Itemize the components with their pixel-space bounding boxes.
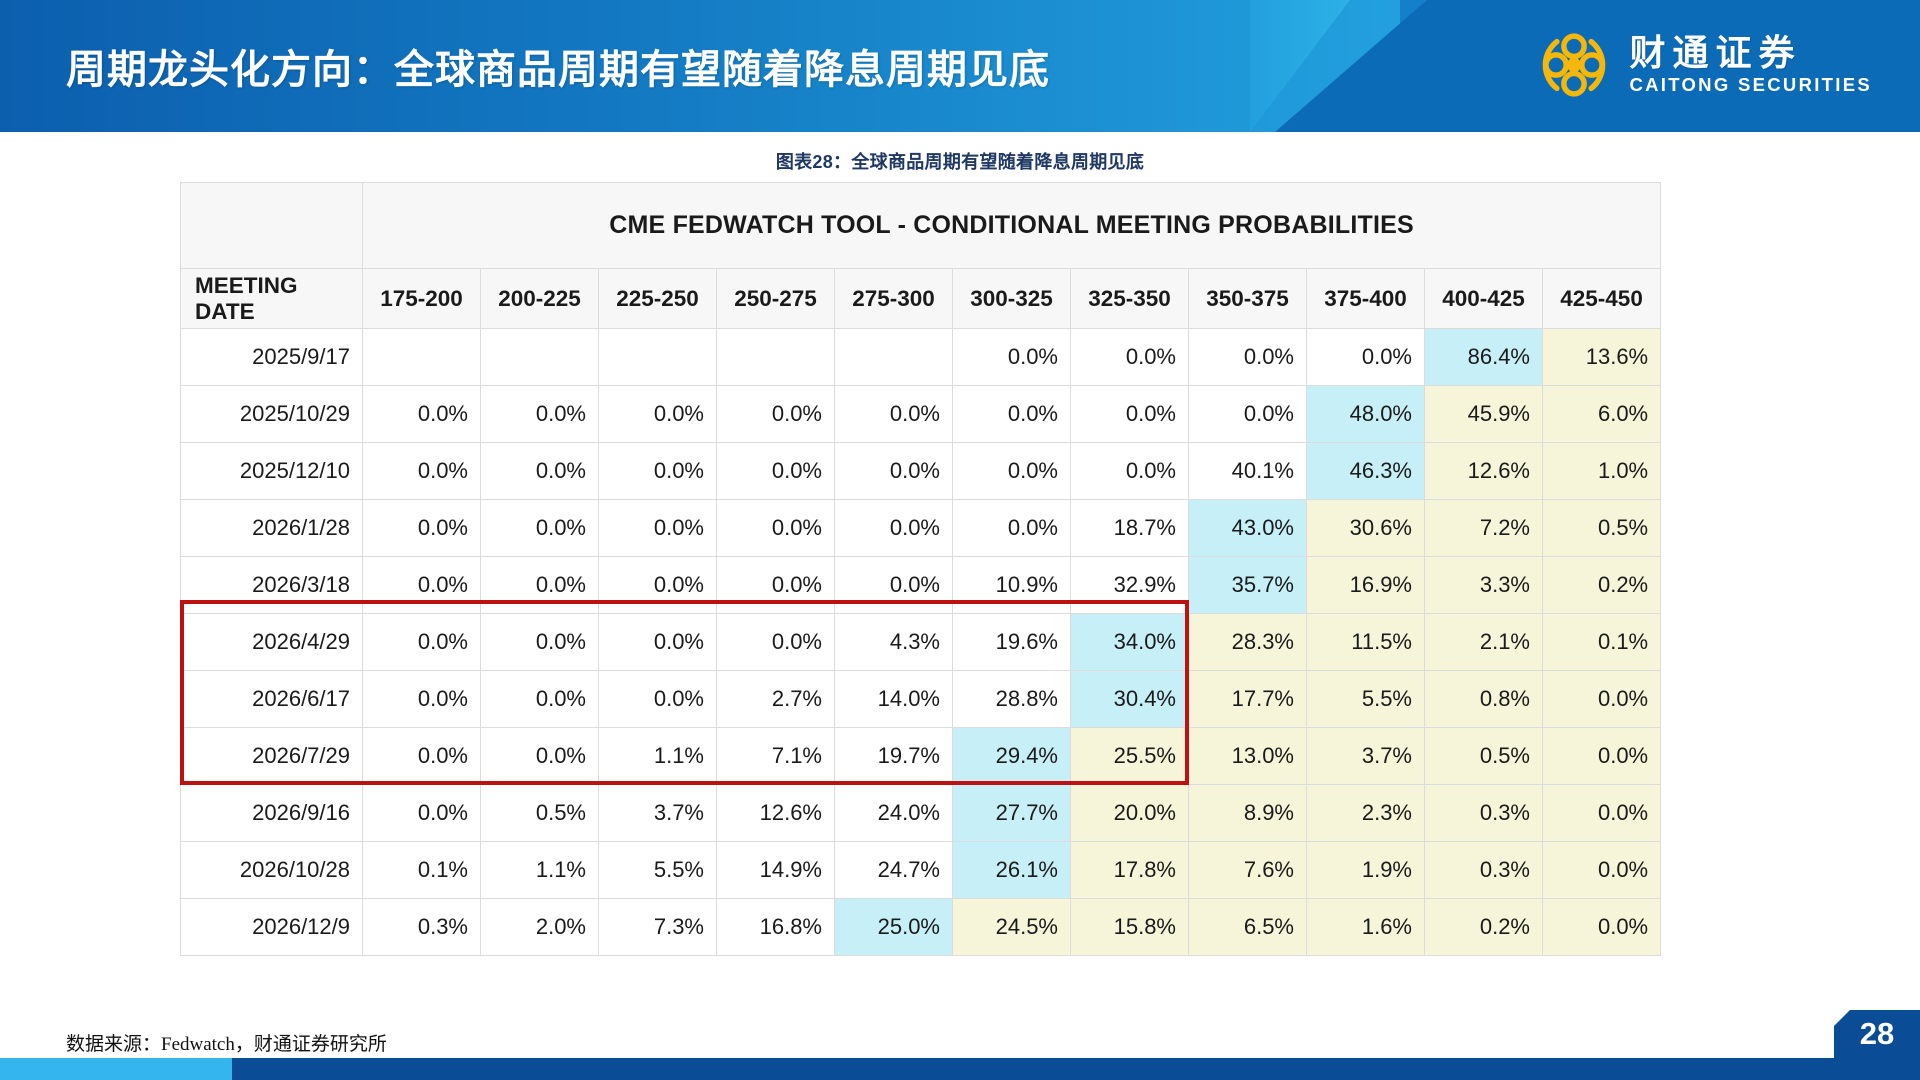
probability-cell: 0.0% [1189,386,1307,443]
probability-cell: 0.0% [363,557,481,614]
probability-cell: 20.0% [1071,785,1189,842]
probability-cell: 3.7% [1307,728,1425,785]
probability-cell: 7.1% [717,728,835,785]
probability-cell: 1.6% [1307,899,1425,956]
table-row: 2026/10/280.1%1.1%5.5%14.9%24.7%26.1%17.… [181,842,1661,899]
company-logo: 财通证券 CAITONG SECURITIES [1535,26,1872,104]
probability-cell: 0.5% [481,785,599,842]
meeting-date-cell: 2026/9/16 [181,785,363,842]
probability-cell: 0.0% [481,614,599,671]
probability-cell: 0.0% [599,500,717,557]
probability-cell: 0.0% [1071,443,1189,500]
column-header-400-425: 400-425 [1425,269,1543,329]
probability-cell: 1.9% [1307,842,1425,899]
page-title: 周期龙头化方向：全球商品周期有望随着降息周期见底 [66,0,1050,132]
table-row: 2026/9/160.0%0.5%3.7%12.6%24.0%27.7%20.0… [181,785,1661,842]
probability-cell: 2.1% [1425,614,1543,671]
probability-cell: 34.0% [1071,614,1189,671]
fedwatch-table-container: CME FEDWATCH TOOL - CONDITIONAL MEETING … [180,182,1660,956]
probability-cell: 0.0% [835,557,953,614]
probability-cell: 0.0% [481,671,599,728]
probability-cell: 12.6% [1425,443,1543,500]
table-row: 2026/12/90.3%2.0%7.3%16.8%25.0%24.5%15.8… [181,899,1661,956]
slide: 周期龙头化方向：全球商品周期有望随着降息周期见底 财通证券 [0,0,1920,1080]
probability-cell: 2.7% [717,671,835,728]
column-header-250-275: 250-275 [717,269,835,329]
probability-cell: 0.3% [1425,785,1543,842]
column-header-175-200: 175-200 [363,269,481,329]
probability-cell: 0.0% [363,671,481,728]
probability-cell: 0.0% [1071,329,1189,386]
probability-cell: 0.1% [1543,614,1661,671]
probability-cell: 27.7% [953,785,1071,842]
probability-cell: 0.0% [1071,386,1189,443]
probability-cell: 7.3% [599,899,717,956]
source-note: 数据来源：Fedwatch，财通证券研究所 [66,1029,387,1056]
table-row: 2026/6/170.0%0.0%0.0%2.7%14.0%28.8%30.4%… [181,671,1661,728]
bottom-bar-main [232,1058,1920,1080]
column-header-200-225: 200-225 [481,269,599,329]
probability-cell: 5.5% [1307,671,1425,728]
probability-cell: 10.9% [953,557,1071,614]
column-header-275-300: 275-300 [835,269,953,329]
probability-cell: 26.1% [953,842,1071,899]
probability-cell: 0.8% [1425,671,1543,728]
probability-cell: 0.2% [1425,899,1543,956]
meeting-date-cell: 2025/9/17 [181,329,363,386]
probability-cell: 1.0% [1543,443,1661,500]
column-header-meeting-date: MEETING DATE [181,269,363,329]
probability-cell: 43.0% [1189,500,1307,557]
caitong-emblem-icon [1535,26,1613,104]
probability-cell [363,329,481,386]
fedwatch-probability-table: CME FEDWATCH TOOL - CONDITIONAL MEETING … [180,182,1661,956]
table-column-header-row: MEETING DATE175-200200-225225-250250-275… [181,269,1661,329]
probability-cell: 28.3% [1189,614,1307,671]
probability-cell: 24.0% [835,785,953,842]
probability-cell: 0.0% [717,386,835,443]
probability-cell: 0.0% [953,443,1071,500]
column-header-300-325: 300-325 [953,269,1071,329]
probability-cell: 24.5% [953,899,1071,956]
meeting-date-cell: 2026/10/28 [181,842,363,899]
meeting-date-cell: 2026/6/17 [181,671,363,728]
probability-cell: 24.7% [835,842,953,899]
probability-cell: 0.0% [599,671,717,728]
column-header-325-350: 325-350 [1071,269,1189,329]
probability-cell: 13.0% [1189,728,1307,785]
slide-header: 周期龙头化方向：全球商品周期有望随着降息周期见底 财通证券 [0,0,1920,132]
probability-cell: 13.6% [1543,329,1661,386]
probability-cell: 12.6% [717,785,835,842]
probability-cell: 3.7% [599,785,717,842]
probability-cell: 0.0% [363,500,481,557]
probability-cell [835,329,953,386]
probability-cell: 1.1% [599,728,717,785]
probability-cell: 25.0% [835,899,953,956]
probability-cell: 0.0% [835,500,953,557]
table-row: 2026/3/180.0%0.0%0.0%0.0%0.0%10.9%32.9%3… [181,557,1661,614]
probability-cell: 0.0% [1543,785,1661,842]
probability-cell: 14.9% [717,842,835,899]
logo-text: 财通证券 CAITONG SECURITIES [1629,34,1872,97]
probability-cell: 0.0% [717,557,835,614]
probability-cell: 0.0% [363,728,481,785]
probability-cell: 40.1% [1189,443,1307,500]
probability-cell: 0.0% [1543,899,1661,956]
probability-cell: 0.0% [717,500,835,557]
probability-cell: 16.8% [717,899,835,956]
probability-cell: 29.4% [953,728,1071,785]
probability-cell: 0.0% [363,614,481,671]
bottom-bar [0,1058,1920,1080]
probability-cell: 0.0% [717,443,835,500]
column-header-425-450: 425-450 [1543,269,1661,329]
probability-cell: 2.0% [481,899,599,956]
probability-cell: 14.0% [835,671,953,728]
probability-cell: 0.0% [481,728,599,785]
figure-title: 图表28：全球商品周期有望随着降息周期见底 [0,148,1920,174]
probability-cell: 7.6% [1189,842,1307,899]
probability-cell: 0.0% [1543,671,1661,728]
column-header-375-400: 375-400 [1307,269,1425,329]
meeting-date-cell: 2026/7/29 [181,728,363,785]
probability-cell: 0.0% [1307,329,1425,386]
meeting-date-cell: 2026/1/28 [181,500,363,557]
probability-cell: 0.0% [599,557,717,614]
probability-cell: 0.0% [599,614,717,671]
probability-cell: 11.5% [1307,614,1425,671]
probability-cell: 0.5% [1543,500,1661,557]
probability-cell: 0.0% [1543,842,1661,899]
meeting-date-cell: 2025/10/29 [181,386,363,443]
table-corner-cell [181,183,363,269]
table-row: 2025/10/290.0%0.0%0.0%0.0%0.0%0.0%0.0%0.… [181,386,1661,443]
probability-cell: 0.0% [363,443,481,500]
probability-cell: 17.7% [1189,671,1307,728]
probability-cell: 28.8% [953,671,1071,728]
probability-cell: 0.0% [481,443,599,500]
probability-cell: 86.4% [1425,329,1543,386]
probability-cell: 32.9% [1071,557,1189,614]
table-banner-row: CME FEDWATCH TOOL - CONDITIONAL MEETING … [181,183,1661,269]
logo-english-name: CAITONG SECURITIES [1629,74,1872,96]
probability-cell: 0.0% [363,386,481,443]
probability-cell: 8.9% [1189,785,1307,842]
meeting-date-cell: 2026/12/9 [181,899,363,956]
table-body: 2025/9/170.0%0.0%0.0%0.0%86.4%13.6%2025/… [181,329,1661,956]
probability-cell: 17.8% [1071,842,1189,899]
probability-cell: 0.0% [835,443,953,500]
table-row: 2026/4/290.0%0.0%0.0%0.0%4.3%19.6%34.0%2… [181,614,1661,671]
probability-cell: 1.1% [481,842,599,899]
column-header-225-250: 225-250 [599,269,717,329]
probability-cell: 19.7% [835,728,953,785]
probability-cell: 4.3% [835,614,953,671]
probability-cell: 0.0% [481,386,599,443]
probability-cell: 0.1% [363,842,481,899]
probability-cell: 0.3% [363,899,481,956]
meeting-date-cell: 2026/3/18 [181,557,363,614]
probability-cell: 6.5% [1189,899,1307,956]
probability-cell [717,329,835,386]
probability-cell: 19.6% [953,614,1071,671]
probability-cell: 0.0% [599,443,717,500]
probability-cell: 0.0% [481,500,599,557]
probability-cell: 30.6% [1307,500,1425,557]
bottom-bar-accent [0,1058,232,1080]
table-row: 2025/12/100.0%0.0%0.0%0.0%0.0%0.0%0.0%40… [181,443,1661,500]
probability-cell: 0.0% [363,785,481,842]
probability-cell: 5.5% [599,842,717,899]
probability-cell: 7.2% [1425,500,1543,557]
probability-cell: 0.0% [953,329,1071,386]
probability-cell: 16.9% [1307,557,1425,614]
probability-cell: 46.3% [1307,443,1425,500]
probability-cell: 45.9% [1425,386,1543,443]
probability-cell: 0.0% [1189,329,1307,386]
probability-cell: 0.3% [1425,842,1543,899]
probability-cell: 18.7% [1071,500,1189,557]
meeting-date-cell: 2026/4/29 [181,614,363,671]
probability-cell [599,329,717,386]
probability-cell: 48.0% [1307,386,1425,443]
probability-cell: 0.0% [599,386,717,443]
probability-cell: 6.0% [1543,386,1661,443]
table-row: 2026/1/280.0%0.0%0.0%0.0%0.0%0.0%18.7%43… [181,500,1661,557]
table-row: 2026/7/290.0%0.0%1.1%7.1%19.7%29.4%25.5%… [181,728,1661,785]
table-banner-title: CME FEDWATCH TOOL - CONDITIONAL MEETING … [363,183,1661,269]
probability-cell: 25.5% [1071,728,1189,785]
column-header-350-375: 350-375 [1189,269,1307,329]
probability-cell: 3.3% [1425,557,1543,614]
probability-cell: 2.3% [1307,785,1425,842]
table-row: 2025/9/170.0%0.0%0.0%0.0%86.4%13.6% [181,329,1661,386]
probability-cell: 0.0% [717,614,835,671]
page-number-badge: 28 [1834,1010,1920,1058]
probability-cell: 0.0% [1543,728,1661,785]
probability-cell: 35.7% [1189,557,1307,614]
probability-cell: 0.5% [1425,728,1543,785]
probability-cell: 30.4% [1071,671,1189,728]
table-header: CME FEDWATCH TOOL - CONDITIONAL MEETING … [181,183,1661,329]
meeting-date-cell: 2025/12/10 [181,443,363,500]
logo-chinese-name: 财通证券 [1629,34,1801,72]
probability-cell: 0.0% [953,500,1071,557]
probability-cell [481,329,599,386]
probability-cell: 0.0% [953,386,1071,443]
probability-cell: 15.8% [1071,899,1189,956]
probability-cell: 0.0% [835,386,953,443]
probability-cell: 0.2% [1543,557,1661,614]
probability-cell: 0.0% [481,557,599,614]
